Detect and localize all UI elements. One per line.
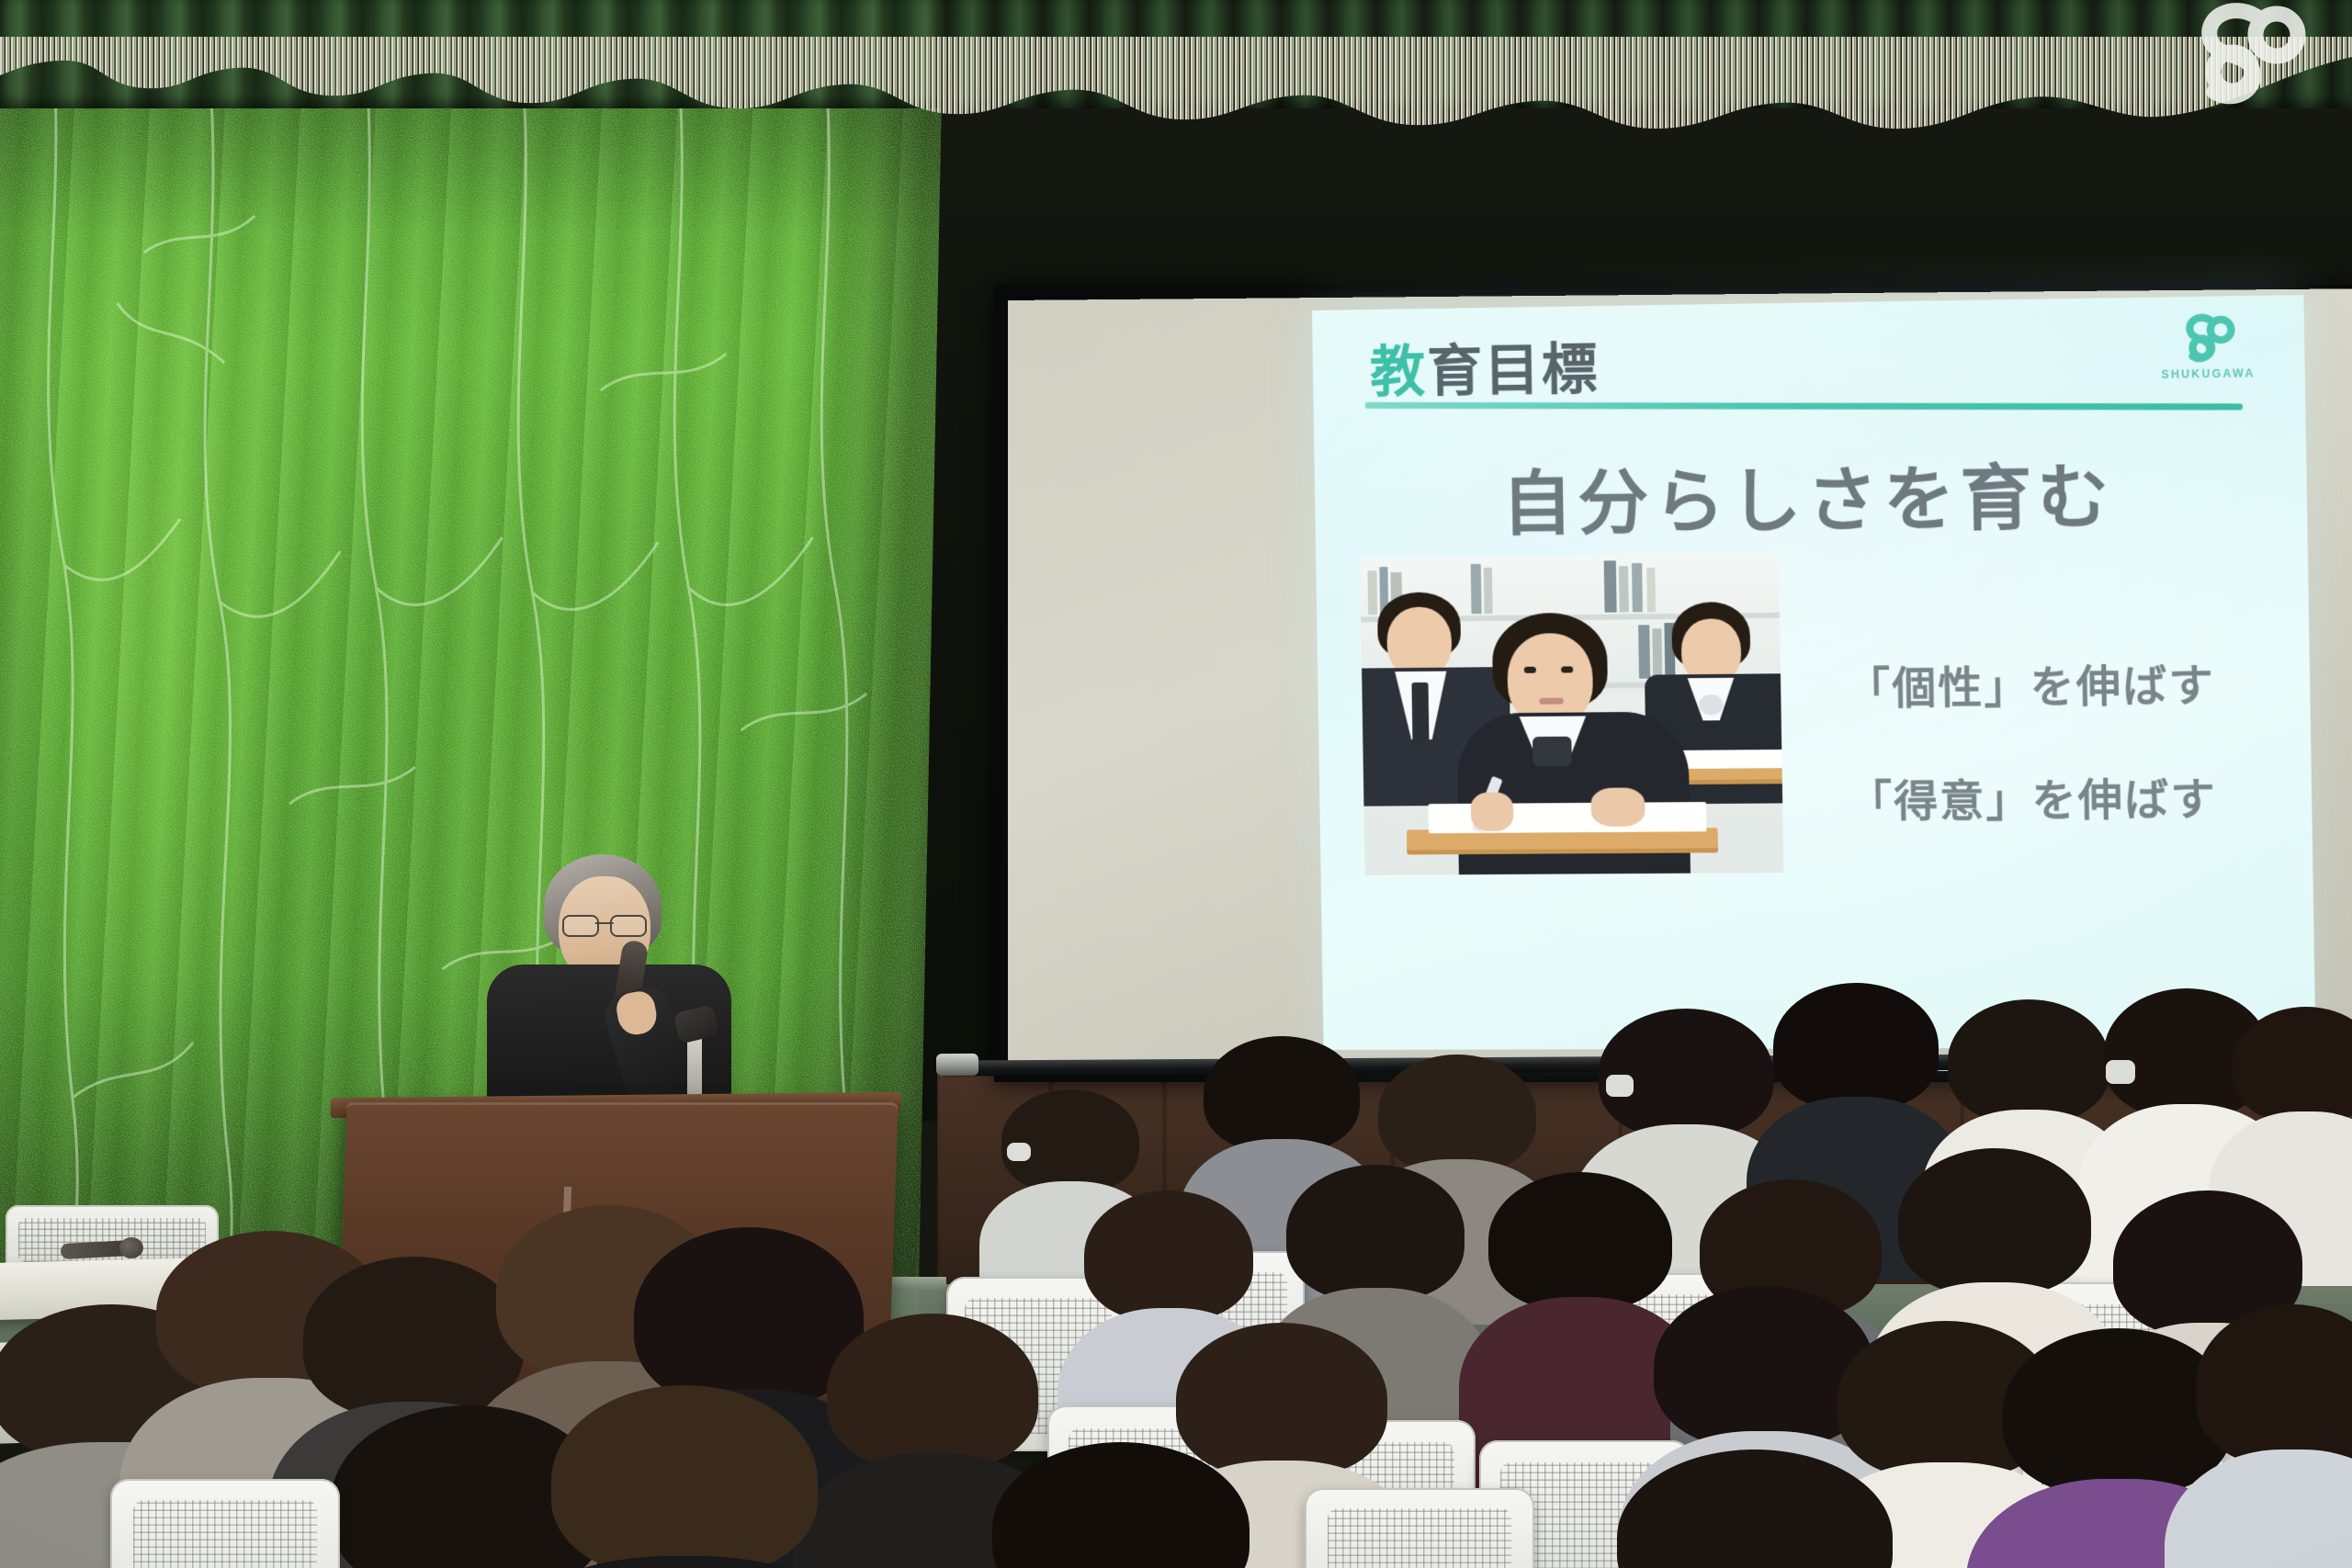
audience-area xyxy=(0,1010,2352,1568)
person-hair xyxy=(303,1257,524,1418)
person-hair xyxy=(2196,1304,2352,1466)
person-hair xyxy=(1001,1089,1139,1192)
student-mouth xyxy=(1539,698,1563,705)
notebook xyxy=(1676,750,1784,769)
slide-classroom-photo xyxy=(1360,553,1783,874)
fringe-svg xyxy=(0,37,2352,138)
slide-bullet-list: 「個性」を伸ばす 「得意」を伸ばす xyxy=(1846,649,2292,879)
person-hair xyxy=(1599,1009,1773,1137)
person-hair xyxy=(1948,999,2109,1122)
slide-main-heading: 自分らしさを育む xyxy=(1314,437,2307,551)
person-hair xyxy=(2233,1007,2352,1122)
valance-fringe-wave xyxy=(0,37,2352,138)
book xyxy=(1619,566,1629,612)
face-mask xyxy=(1606,1075,1634,1097)
event-photo-scene: 教育目標 SHUKUGAWA 自分らしさを育む xyxy=(0,0,2352,1568)
book xyxy=(1632,563,1643,612)
person-hair xyxy=(992,1442,1249,1568)
shukugawa-mark-icon xyxy=(2173,309,2242,366)
audience-person-foreground xyxy=(992,1442,1249,1568)
slide-title-underline xyxy=(1365,402,2243,411)
audience-person xyxy=(1488,1172,1672,1457)
speaker-glasses-icon xyxy=(562,915,647,933)
slide-title: 教育目標 xyxy=(1369,324,1600,408)
curtain-shukugawa-logo xyxy=(2168,0,2324,105)
person-hair xyxy=(1898,1148,2091,1295)
person-hair xyxy=(1204,1036,1360,1152)
student-ribbon xyxy=(1699,694,1724,715)
face-mask xyxy=(1007,1143,1031,1161)
student-hand-right xyxy=(1590,787,1645,827)
slide-logo: SHUKUGAWA xyxy=(2154,309,2262,381)
slide-bullet-1: 「個性」を伸ばす xyxy=(1846,649,2290,716)
projected-slide: 教育目標 SHUKUGAWA 自分らしさを育む xyxy=(1312,295,2315,1050)
person-hair xyxy=(1617,1450,1893,1568)
person-hair xyxy=(551,1385,818,1568)
slide-logo-brandname: SHUKUGAWA xyxy=(2155,367,2262,381)
person-hair xyxy=(1084,1190,1253,1321)
student-bowtie xyxy=(1532,737,1572,766)
student-eye-right xyxy=(1561,666,1573,672)
slide-title-rest: 育目標 xyxy=(1427,338,1600,402)
face-mask xyxy=(2106,1060,2135,1084)
audience-chair xyxy=(110,1479,340,1568)
slide-bullet-2: 「得意」を伸ばす xyxy=(1848,762,2291,829)
student-eye-left xyxy=(1524,667,1536,673)
audience-person xyxy=(2196,1304,2352,1568)
student-necktie xyxy=(1411,682,1429,743)
slide-title-accent-char: 教 xyxy=(1370,341,1428,403)
person-hair xyxy=(1378,1055,1536,1172)
audience-chair xyxy=(1305,1488,1534,1568)
student-hand-left xyxy=(1471,792,1514,830)
person-hair xyxy=(1773,983,1939,1110)
person-hair xyxy=(1488,1172,1672,1310)
audience-person-foreground xyxy=(551,1385,818,1568)
book xyxy=(1604,560,1617,612)
shukugawa-mark-icon-white xyxy=(2168,0,2324,105)
person-hair xyxy=(1286,1165,1464,1301)
audience-person-foreground xyxy=(1617,1450,1893,1568)
person-body xyxy=(509,1556,861,1568)
